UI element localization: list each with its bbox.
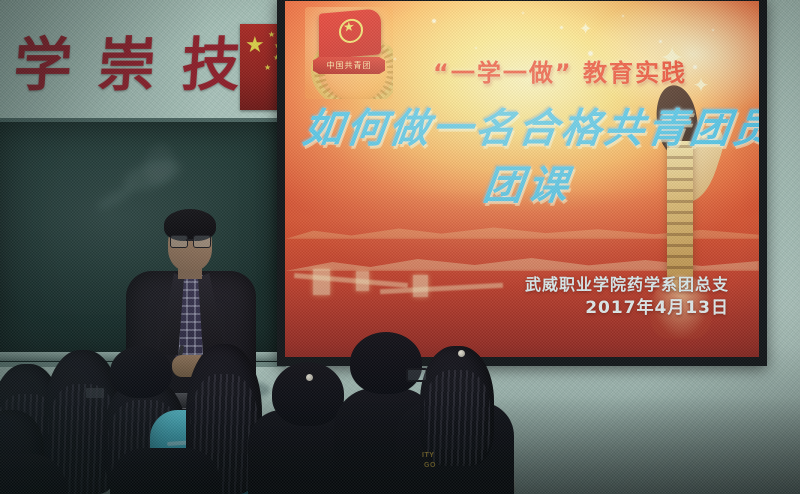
slide-date: 2017年4月13日	[585, 293, 729, 318]
slide-main-heading: 如何做一名合格共青团员	[300, 109, 755, 150]
communist-youth-league-emblem: ★ 中国共青团	[305, 7, 393, 99]
flag-star-small-4: ★	[264, 64, 271, 72]
wall-shadow-bottom	[0, 344, 800, 494]
slide-title: “一学一做” 教育实践	[395, 53, 725, 88]
emblem-flag: ★	[319, 8, 381, 59]
emblem-star-circle: ★	[339, 18, 363, 44]
great-wall-tower	[356, 271, 369, 291]
great-wall-tower	[313, 269, 330, 295]
classroom-photo: 学 崇 技 ★ ★ ★ ★ ★	[0, 0, 800, 494]
flag-star-small-1: ★	[268, 31, 275, 39]
slide-sub-heading: 团课	[299, 153, 756, 211]
slide-star-burst-3: ✦	[579, 22, 592, 38]
emblem-ribbon-text: 中国共青团	[313, 57, 385, 74]
flag-star-large: ★	[245, 34, 265, 56]
great-wall-tower	[413, 275, 428, 297]
slide-organization: 武威职业学院药学系团总支	[525, 271, 729, 295]
projection-screen: ✦ ✦ ✦ ★	[285, 1, 759, 357]
projection-screen-frame: ✦ ✦ ✦ ★	[277, 0, 767, 366]
